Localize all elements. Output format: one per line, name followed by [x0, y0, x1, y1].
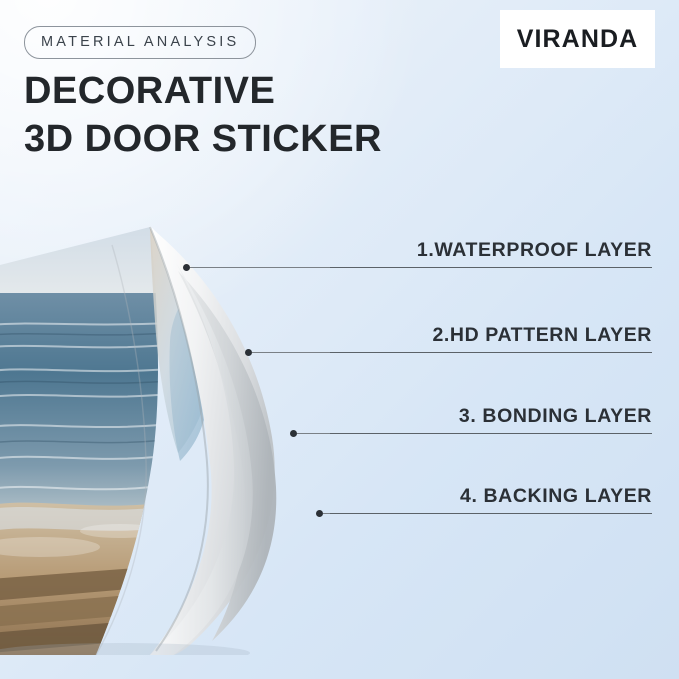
- page-title-line2: 3D DOOR STICKER: [24, 120, 382, 158]
- eyebrow-badge: MATERIAL ANALYSIS: [24, 26, 256, 59]
- callout-2[interactable]: 2.HD PATTERN LAYER: [330, 323, 652, 353]
- brand-logo-box: VIRANDA: [500, 10, 655, 68]
- brand-name: VIRANDA: [517, 25, 639, 54]
- page-title-line1: DECORATIVE: [24, 72, 275, 110]
- callout-3-label: 3. BONDING LAYER: [459, 405, 652, 428]
- callout-3-underline: [330, 433, 652, 434]
- callout-4-label: 4. BACKING LAYER: [460, 485, 652, 508]
- callout-1[interactable]: 1.WATERPROOF LAYER: [330, 238, 652, 268]
- callout-4-underline: [330, 513, 652, 514]
- callout-1-label: 1.WATERPROOF LAYER: [417, 239, 652, 262]
- callout-2-label: 2.HD PATTERN LAYER: [432, 324, 652, 347]
- callout-2-underline: [330, 352, 652, 353]
- callout-3[interactable]: 3. BONDING LAYER: [330, 404, 652, 434]
- poster-canvas: MATERIAL ANALYSIS DECORATIVE 3D DOOR STI…: [0, 0, 679, 679]
- callout-1-underline: [330, 267, 652, 268]
- callout-4[interactable]: 4. BACKING LAYER: [330, 484, 652, 514]
